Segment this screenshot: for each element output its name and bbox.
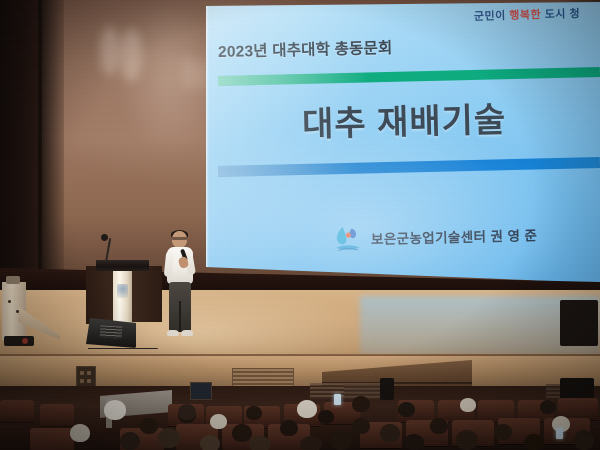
audience-head [70, 424, 90, 442]
audience-head [280, 420, 298, 436]
audience-head [540, 400, 556, 414]
presenter-leg-gap [179, 301, 181, 332]
audience-head [249, 436, 271, 450]
audience-head [297, 400, 317, 418]
audience-head [318, 410, 334, 424]
stage-red-marker [22, 338, 28, 344]
slide-subtitle: 2023년 대추대학 총동문회 [218, 33, 518, 62]
projection-screen: 군민이 행복한 도시 청 2023년 대추대학 총동문회 대추 재배기술 보은군… [206, 2, 600, 284]
podium-shadow-left [86, 266, 114, 324]
presenter-shoe-right [181, 330, 193, 336]
stage-equipment-tower-top [6, 276, 20, 284]
audience-head [352, 418, 370, 434]
audience-head [246, 406, 262, 420]
audience-phone-screen [556, 428, 563, 439]
audience-seat [30, 428, 74, 450]
county-slogan-part3: 도시 청 [545, 8, 581, 21]
audience-head [524, 434, 544, 450]
slide-blue-divider [218, 157, 600, 177]
stage-cable [88, 348, 158, 349]
audience-phone-recording [334, 394, 341, 405]
auditorium-photo: 군민이 행복한 도시 청 2023년 대추대학 총동문회 대추 재배기술 보은군… [0, 0, 600, 450]
wall-light-smudge-3 [182, 56, 196, 92]
audience-head [178, 404, 196, 420]
lectern-microphone-head [101, 234, 108, 241]
audience-seat [40, 404, 74, 426]
audience-head [210, 414, 227, 429]
equipment-dot-1 [8, 300, 11, 303]
stage-side-equipment-right [560, 300, 598, 346]
stage-equipment-case [4, 336, 34, 346]
house-hanging-speaker [380, 378, 394, 400]
audience-head [158, 428, 180, 448]
audience-head [104, 400, 126, 420]
slide-presenter-name: 보은군농업기술센터 권 영 준 [371, 224, 538, 248]
wall-mounted-frame [190, 382, 212, 400]
audience-head [574, 430, 594, 450]
audience-head [232, 424, 252, 442]
audience-head [380, 424, 400, 442]
audience-head [200, 435, 220, 450]
slide-presenter-line: 보은군농업기술센터 권 영 준 [332, 219, 538, 254]
audience-head [352, 396, 370, 412]
wall-light-smudge-1 [100, 26, 120, 76]
audience-head [494, 424, 512, 440]
county-slogan-part2: 행복한 [509, 9, 541, 22]
audience-head [120, 432, 140, 450]
county-slogan: 군민이 행복한 도시 청 [474, 4, 600, 34]
wall-light-smudge-2 [120, 28, 142, 82]
audience-head [456, 430, 478, 450]
podium-shadow-right [132, 266, 162, 322]
audience-head [140, 418, 158, 434]
boeun-county-emblem-icon [332, 223, 363, 254]
audience-head [404, 434, 424, 450]
stage-curtain-left-fold [38, 0, 64, 310]
lectern-emblem [117, 284, 128, 298]
presenter-standing [160, 231, 200, 341]
slide-main-title: 대추 재배기술 [301, 90, 600, 146]
audience-head [398, 402, 415, 417]
equipment-dot-2 [16, 310, 19, 313]
audience-head [430, 418, 448, 434]
floor-monitor-grille [100, 325, 123, 338]
presenter-glasses [172, 237, 187, 240]
audience-seat [0, 400, 34, 422]
audience-head [330, 430, 352, 450]
screen-left-edge-highlight [206, 2, 209, 284]
audience-head [460, 398, 476, 412]
audience-head [300, 436, 322, 450]
presenter-shoe-left [167, 330, 179, 336]
county-slogan-part1: 군민이 [474, 10, 506, 23]
slide-green-divider [218, 67, 600, 86]
